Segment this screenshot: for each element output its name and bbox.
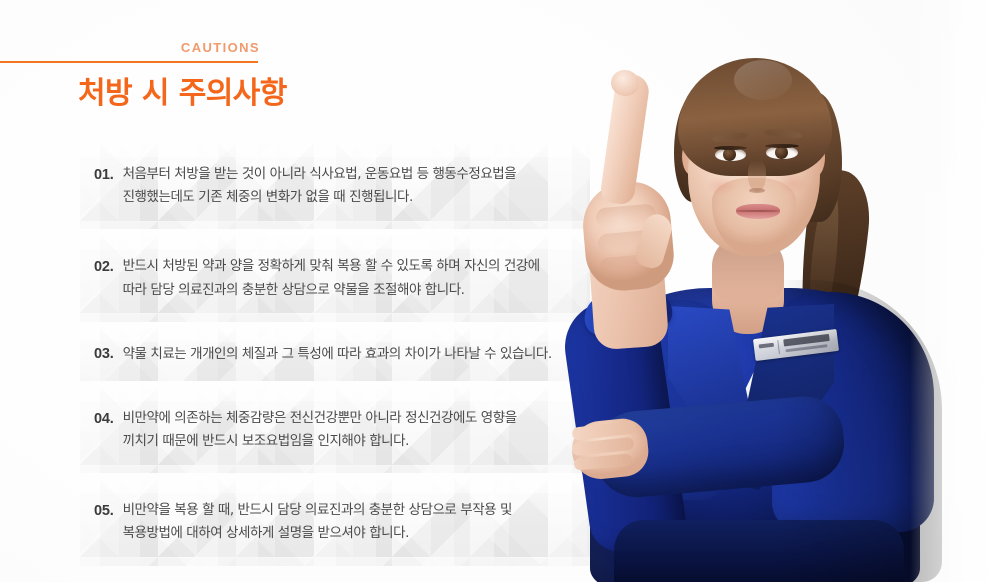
cautions-list: 01. 처음부터 처방을 받는 것이 아니라 식사요법, 운동요법 등 행동수정… [80, 143, 590, 566]
list-item-number: 03. [94, 342, 123, 367]
list-item-text: 처음부터 처방을 받는 것이 아니라 식사요법, 운동요법 등 행동수정요법을 … [123, 163, 517, 209]
right-edge-fade [910, 0, 1000, 582]
list-item-line: 비만약에 의존하는 체중감량은 전신건강뿐만 아니라 정신건강에도 영향을 [123, 407, 517, 430]
list-item-line: 따라 담당 의료진과의 충분한 상담으로 약물을 조절해야 합니다. [123, 279, 540, 302]
list-item-line: 복용방법에 대하여 상세하게 설명을 받으셔야 합니다. [123, 522, 512, 545]
page-title: 처방 시 주의사항 [78, 68, 287, 112]
list-item-line: 반드시 처방된 약과 양을 정확하게 맞춰 복용 할 수 있도록 하며 자신의 … [123, 255, 540, 278]
header-rule [0, 61, 258, 63]
list-item-number: 01. [94, 163, 123, 188]
header-eyebrow: CAUTIONS [181, 40, 260, 55]
list-item: 02. 반드시 처방된 약과 양을 정확하게 맞춰 복용 할 수 있도록 하며 … [80, 235, 590, 321]
page-header: CAUTIONS 처방 시 주의사항 [0, 40, 300, 112]
list-item-line: 진행했는데도 기존 체중의 변화가 없을 때 진행됩니다. [123, 186, 517, 209]
list-item-text: 약물 치료는 개개인의 체질과 그 특성에 따라 효과의 차이가 나타날 수 있… [123, 343, 552, 366]
list-item: 01. 처음부터 처방을 받는 것이 아니라 식사요법, 운동요법 등 행동수정… [80, 143, 590, 229]
list-item: 05. 비만약을 복용 할 때, 반드시 담당 의료진과의 충분한 상담으로 부… [80, 479, 590, 565]
list-item: 03. 약물 치료는 개개인의 체질과 그 특성에 따라 효과의 차이가 나타날… [80, 328, 590, 381]
list-item-line: 처음부터 처방을 받는 것이 아니라 식사요법, 운동요법 등 행동수정요법을 [123, 163, 517, 186]
list-item-number: 02. [94, 255, 123, 280]
list-item-line: 약물 치료는 개개인의 체질과 그 특성에 따라 효과의 차이가 나타날 수 있… [123, 343, 552, 366]
list-item-number: 05. [94, 499, 123, 524]
list-item-number: 04. [94, 407, 123, 432]
list-item-line: 끼치기 때문에 반드시 보조요법임을 인지해야 합니다. [123, 430, 517, 453]
list-item-text: 비만약에 의존하는 체중감량은 전신건강뿐만 아니라 정신건강에도 영향을 끼치… [123, 407, 517, 453]
list-item-text: 비만약을 복용 할 때, 반드시 담당 의료진과의 충분한 상담으로 부작용 및… [123, 499, 512, 545]
page-root: CAUTIONS 처방 시 주의사항 01. 처음부터 처방을 받는 것이 아니… [0, 0, 1000, 582]
list-item-line: 비만약을 복용 할 때, 반드시 담당 의료진과의 충분한 상담으로 부작용 및 [123, 499, 512, 522]
list-item: 04. 비만약에 의존하는 체중감량은 전신건강뿐만 아니라 정신건강에도 영향… [80, 387, 590, 473]
list-item-text: 반드시 처방된 약과 양을 정확하게 맞춰 복용 할 수 있도록 하며 자신의 … [123, 255, 540, 301]
